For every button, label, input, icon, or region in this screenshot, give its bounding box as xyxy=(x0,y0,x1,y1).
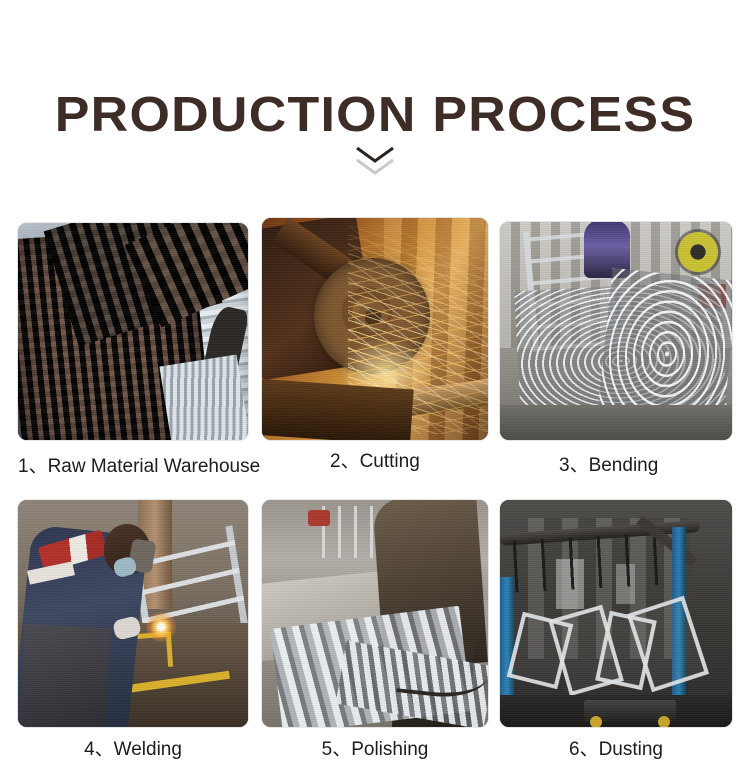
page-header: PRODUCTION PROCESS xyxy=(0,0,750,200)
step-4-caption: 4、Welding xyxy=(18,734,248,761)
process-steps-grid: 1、Raw Material Warehouse 2、Cutting xyxy=(0,200,750,776)
step-6-caption: 6、Dusting xyxy=(500,734,732,761)
step-1-photo-raw-material-warehouse xyxy=(18,223,248,440)
step-1-caption: 1、Raw Material Warehouse xyxy=(18,451,260,478)
step-6-photo-dusting xyxy=(500,500,732,727)
step-2-photo-cutting xyxy=(262,218,488,440)
chevron-down-icon-bottom xyxy=(355,158,395,174)
chevron-group xyxy=(355,146,395,186)
page-title: PRODUCTION PROCESS xyxy=(0,90,750,140)
step-2-caption: 2、Cutting xyxy=(330,446,420,473)
step-5-caption: 5、Polishing xyxy=(262,734,488,761)
step-3-photo-bending xyxy=(500,222,732,440)
step-3-caption: 3、Bending xyxy=(559,450,658,477)
step-5-photo-polishing xyxy=(262,500,488,727)
step-4-photo-welding xyxy=(18,500,248,727)
